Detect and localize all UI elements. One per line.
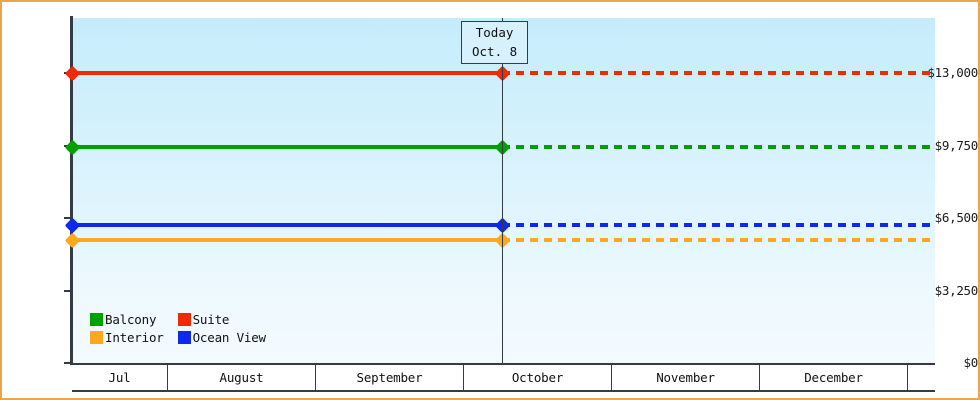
chart-frame: $13,000$9,750$6,500$3,250$0 Today Oct. 8… bbox=[0, 0, 980, 400]
series-line-actual bbox=[72, 145, 502, 149]
y-axis-tick bbox=[64, 362, 72, 364]
series-line-forecast bbox=[502, 145, 935, 149]
legend-label: Balcony bbox=[105, 312, 156, 327]
series-line-actual bbox=[72, 238, 502, 242]
x-axis-month-empty[interactable] bbox=[908, 365, 935, 390]
legend-swatch bbox=[178, 313, 191, 326]
legend-swatch bbox=[178, 331, 191, 344]
series-line-forecast bbox=[502, 238, 935, 242]
x-axis-month-december[interactable]: December bbox=[760, 365, 908, 390]
y-axis-label: $3,250 bbox=[916, 283, 978, 298]
x-axis-month-october[interactable]: October bbox=[464, 365, 612, 390]
x-axis-month-jul[interactable]: Jul bbox=[72, 365, 168, 390]
today-vertical-line bbox=[502, 18, 503, 363]
legend-swatch bbox=[90, 331, 103, 344]
series-line-actual bbox=[72, 223, 502, 227]
y-axis-tick bbox=[64, 290, 72, 292]
legend-swatch bbox=[90, 313, 103, 326]
legend-label: Suite bbox=[193, 312, 230, 327]
series-line-forecast bbox=[502, 71, 935, 75]
x-axis-month-august[interactable]: August bbox=[168, 365, 316, 390]
legend-item[interactable]: Ocean View bbox=[178, 330, 266, 345]
legend-label: Interior bbox=[105, 330, 164, 345]
legend-item[interactable]: Suite bbox=[178, 312, 266, 327]
x-axis-month-september[interactable]: September bbox=[316, 365, 464, 390]
today-callout: Today Oct. 8 bbox=[461, 21, 528, 64]
legend-item[interactable]: Balcony bbox=[90, 312, 164, 327]
legend-label: Ocean View bbox=[193, 330, 266, 345]
today-callout-line2: Oct. 8 bbox=[472, 42, 517, 61]
series-line-forecast bbox=[502, 223, 935, 227]
legend-item[interactable]: Interior bbox=[90, 330, 164, 345]
x-axis-month-band: JulAugustSeptemberOctoberNovemberDecembe… bbox=[72, 363, 935, 392]
series-line-actual bbox=[72, 71, 502, 75]
chart-legend: BalconySuiteInteriorOcean View bbox=[90, 312, 266, 345]
today-callout-line1: Today bbox=[472, 23, 517, 42]
x-axis-month-november[interactable]: November bbox=[612, 365, 760, 390]
